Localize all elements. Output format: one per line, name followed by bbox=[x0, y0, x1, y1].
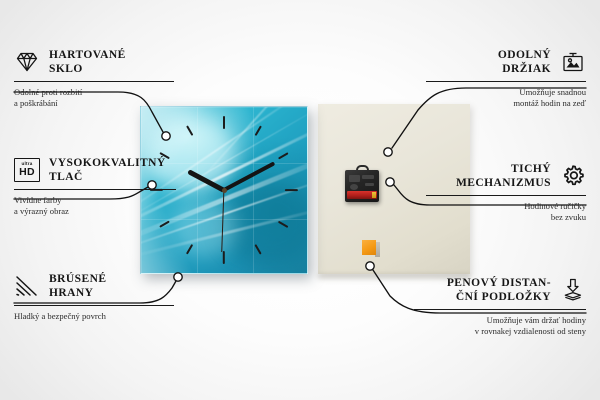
feature-description: Umožňuje vám držať hodiny v rovnakej vzd… bbox=[414, 315, 586, 337]
connector-node-polished-edges bbox=[174, 273, 182, 281]
feature-heading-row: ODOLNÝ DRŽIAK bbox=[426, 48, 586, 76]
movement-detail bbox=[350, 184, 358, 190]
feature-divider bbox=[426, 195, 586, 196]
feature-divider bbox=[14, 81, 174, 82]
movement-detail bbox=[362, 175, 374, 179]
picture-frame-hanger-icon bbox=[560, 49, 586, 75]
gear-icon bbox=[560, 163, 586, 189]
ultra-hd-badge-icon: ultra HD bbox=[14, 158, 40, 182]
feature-description: Hodinové ručičky bez zvuku bbox=[426, 201, 586, 223]
clock-tick-3 bbox=[224, 189, 298, 191]
movement-body bbox=[345, 170, 379, 202]
feature-divider bbox=[414, 309, 586, 310]
feature-divider bbox=[426, 81, 586, 82]
feature-heading-row: HARTOVANÉ SKLO bbox=[14, 48, 174, 76]
foam-spacer-pad bbox=[362, 240, 379, 257]
feature-polished-edges: BRÚSENÉ HRANY Hladký a bezpečný povrch bbox=[14, 272, 174, 322]
feature-high-quality-print: ultra HD VYSOKOKVALITNÝ TLAČ Vivídne far… bbox=[14, 156, 176, 217]
clock-tick-12 bbox=[223, 116, 225, 190]
feature-tempered-glass: HARTOVANÉ SKLO Odolné proti rozbití a po… bbox=[14, 48, 174, 109]
movement-battery bbox=[347, 191, 377, 199]
feature-heading-row: BRÚSENÉ HRANY bbox=[14, 272, 174, 300]
product-infographic: HARTOVANÉ SKLO Odolné proti rozbití a po… bbox=[0, 0, 600, 400]
feature-silent-mechanism: TICHÝ MECHANIZMUS Hodinové ručičky bez z… bbox=[426, 162, 586, 223]
arrow-onto-stack-icon bbox=[560, 277, 586, 303]
feature-heading-row: PENOVÝ DISTAN- ČNÍ PODLOŽKY bbox=[414, 276, 586, 304]
polished-edges-icon bbox=[14, 273, 40, 299]
feature-title: TICHÝ MECHANIZMUS bbox=[456, 162, 551, 190]
diamond-icon bbox=[14, 49, 40, 75]
clock-hand-cap bbox=[222, 188, 227, 193]
feature-title: BRÚSENÉ HRANY bbox=[49, 272, 106, 300]
feature-description: Hladký a bezpečný povrch bbox=[14, 311, 174, 322]
feature-foam-spacers: PENOVÝ DISTAN- ČNÍ PODLOŽKY Umožňuje vám… bbox=[414, 276, 586, 337]
clock-movement bbox=[345, 170, 379, 202]
feature-description: Umožňuje snadnou montáž hodin na zeď bbox=[426, 87, 586, 109]
feature-title: VYSOKOKVALITNÝ TLAČ bbox=[49, 156, 166, 184]
feature-title: PENOVÝ DISTAN- ČNÍ PODLOŽKY bbox=[447, 276, 551, 304]
movement-detail bbox=[365, 183, 374, 186]
movement-detail bbox=[349, 175, 360, 182]
feature-title: HARTOVANÉ SKLO bbox=[49, 48, 126, 76]
feature-durable-holder: ODOLNÝ DRŽIAK Umožňuje snadnou montáž ho… bbox=[426, 48, 586, 109]
feature-divider bbox=[14, 305, 174, 306]
feature-title: ODOLNÝ DRŽIAK bbox=[498, 48, 551, 76]
feature-description: Odolné proti rozbití a poškrábání bbox=[14, 87, 174, 109]
foam-pad-top bbox=[362, 240, 376, 255]
feature-description: Vivídne farby a výrazný obraz bbox=[14, 195, 176, 217]
feature-heading-row: TICHÝ MECHANIZMUS bbox=[426, 162, 586, 190]
hd-badge-main-label: HD bbox=[19, 167, 35, 178]
feature-heading-row: ultra HD VYSOKOKVALITNÝ TLAČ bbox=[14, 156, 176, 184]
feature-divider bbox=[14, 189, 176, 190]
